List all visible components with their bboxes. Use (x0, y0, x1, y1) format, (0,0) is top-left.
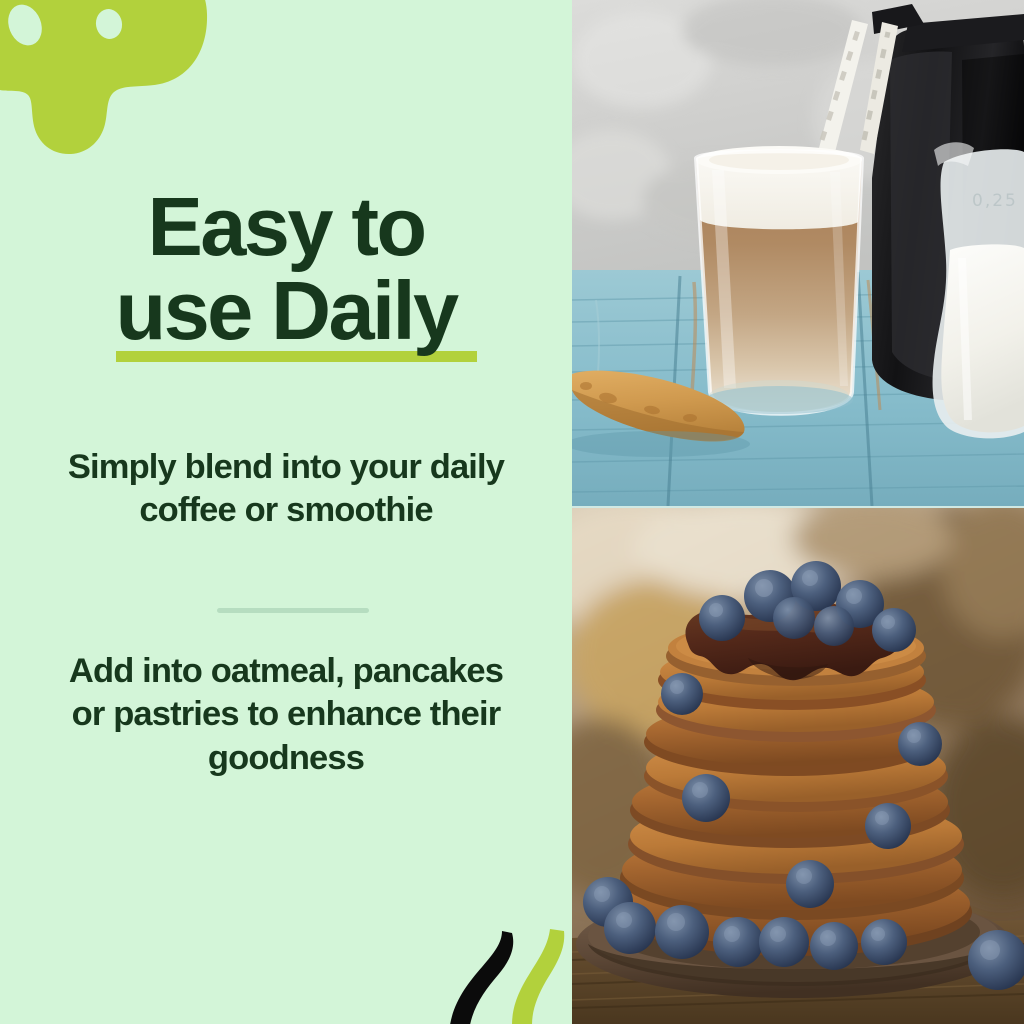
benefit-text-1: Simply blend into your daily coffee or s… (0, 446, 572, 533)
svg-text:0,25 l: 0,25 l (972, 191, 1024, 211)
coffee-latte-photo: 0,25 l (572, 0, 1024, 506)
promo-card: Easy to use Daily Simply blend into your… (0, 0, 1024, 1024)
benefit-text-2: Add into oatmeal, pancakes or pastries t… (0, 650, 572, 780)
text-column: Easy to use Daily Simply blend into your… (0, 0, 572, 1024)
page-title: Easy to use Daily (0, 186, 572, 352)
text-divider-rule (217, 608, 369, 613)
page-title-line-2: use Daily (40, 270, 532, 352)
page-title-line-1: Easy to (40, 186, 532, 268)
photo-column: 0,25 l (572, 0, 1024, 1024)
left-content-panel: Easy to use Daily Simply blend into your… (0, 0, 572, 1024)
pancake-stack-photo (572, 508, 1024, 1024)
